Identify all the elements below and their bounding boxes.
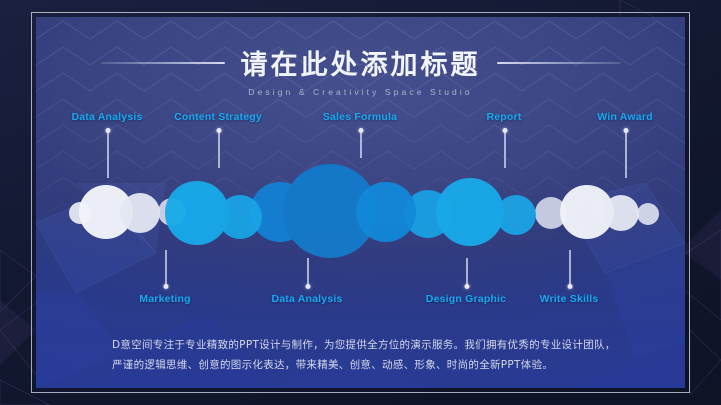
body-paragraph: D意空间专注于专业精致的PPT设计与制作，为您提供全方位的演示服务。我们拥有优秀… bbox=[112, 335, 685, 375]
bubble-15 bbox=[603, 195, 639, 231]
page-title: 请在此处添加标题 bbox=[225, 43, 497, 82]
slide-canvas: 请在此处添加标题 Design & Creativity Space Studi… bbox=[0, 0, 721, 405]
top-connector-4 bbox=[625, 130, 627, 178]
connector-dot-icon bbox=[305, 284, 310, 289]
top-label-0[interactable]: Data Analysis bbox=[71, 111, 142, 123]
bottom-connector-2 bbox=[466, 258, 468, 286]
top-connector-2 bbox=[360, 130, 362, 158]
connector-dot-icon bbox=[163, 284, 168, 289]
title-rule-left bbox=[101, 62, 225, 64]
connector-dot-icon bbox=[623, 128, 628, 133]
slide-panel: 请在此处添加标题 Design & Creativity Space Studi… bbox=[36, 17, 685, 388]
bottom-label-0[interactable]: Marketing bbox=[139, 293, 190, 305]
bubble-3 bbox=[120, 193, 160, 233]
bottom-connector-0 bbox=[165, 250, 167, 286]
connector-dot-icon bbox=[567, 284, 572, 289]
bottom-connector-3 bbox=[569, 250, 571, 286]
page-subtitle: Design & Creativity Space Studio bbox=[248, 87, 472, 97]
top-connector-3 bbox=[504, 130, 506, 168]
bubble-9 bbox=[356, 182, 416, 242]
bottom-label-3[interactable]: Write Skills bbox=[540, 293, 599, 305]
connector-dot-icon bbox=[502, 128, 507, 133]
bubble-6 bbox=[218, 195, 262, 239]
top-label-1[interactable]: Content Strategy bbox=[174, 111, 262, 123]
bubble-11 bbox=[436, 178, 504, 246]
bubble-16 bbox=[637, 203, 659, 225]
top-connector-0 bbox=[107, 130, 109, 178]
body-line-1: D意空间专注于专业精致的PPT设计与制作，为您提供全方位的演示服务。我们拥有优秀… bbox=[112, 335, 685, 355]
bubble-12 bbox=[496, 195, 536, 235]
slide-header: 请在此处添加标题 Design & Creativity Space Studi… bbox=[36, 43, 685, 97]
bottom-connector-1 bbox=[307, 258, 309, 286]
connector-dot-icon bbox=[216, 128, 221, 133]
bottom-label-2[interactable]: Design Graphic bbox=[426, 293, 506, 305]
body-line-2: 严谨的逻辑思维、创意的图示化表达，带来精美、创意、动感、形象、时尚的全新PPT体… bbox=[112, 355, 685, 375]
connector-dot-icon bbox=[105, 128, 110, 133]
connector-dot-icon bbox=[358, 128, 363, 133]
title-row: 请在此处添加标题 bbox=[36, 43, 685, 82]
title-rule-right bbox=[497, 62, 621, 64]
top-label-3[interactable]: Report bbox=[486, 111, 521, 123]
top-connector-1 bbox=[218, 130, 220, 168]
bottom-label-1[interactable]: Data Analysis bbox=[271, 293, 342, 305]
connector-dot-icon bbox=[464, 284, 469, 289]
top-label-4[interactable]: Win Award bbox=[597, 111, 652, 123]
top-label-2[interactable]: Sales Formula bbox=[323, 111, 397, 123]
